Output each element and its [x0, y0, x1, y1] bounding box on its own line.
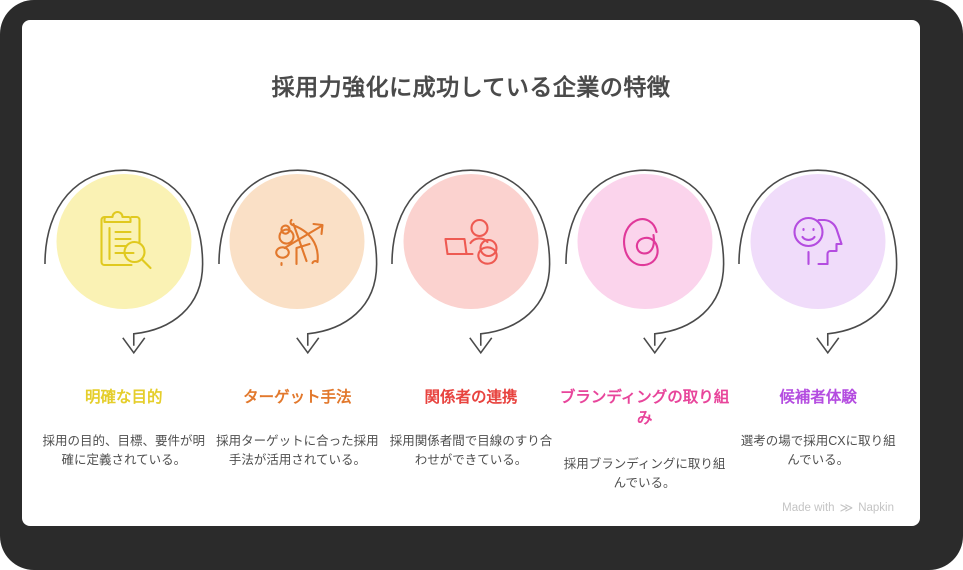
watermark-brand: Napkin	[858, 502, 894, 514]
feature-columns: 明確な目的 採用の目的、目標、要件が明確に定義されている。	[37, 160, 905, 510]
column-description: 採用の目的、目標、要件が明確に定義されている。	[41, 432, 207, 471]
icon-circle	[230, 174, 365, 309]
icon-circle	[403, 174, 538, 309]
feature-column-clear-purpose[interactable]: 明確な目的 採用の目的、目標、要件が明確に定義されている。	[37, 160, 211, 510]
column-heading: ブランディングの取り組み	[558, 388, 732, 430]
icon-circle	[56, 174, 191, 309]
smiley-head-profile-icon	[780, 204, 856, 280]
napkin-logo-icon: ≫	[840, 501, 854, 514]
feature-column-target-method[interactable]: ターゲット手法 採用ターゲットに合った採用手法が活用されている。	[211, 160, 385, 510]
napkin-watermark: Made with ≫ Napkin	[782, 501, 894, 514]
laptop-people-icon	[433, 204, 509, 280]
column-description: 採用ブランディングに取り組んでいる。	[562, 455, 728, 494]
bow-and-arrow-icon	[259, 204, 335, 280]
feature-column-stakeholder-alignment[interactable]: 関係者の連携 採用関係者間で目線のすり合わせができている。	[384, 160, 558, 510]
device-frame: 採用力強化に成功している企業の特徴	[0, 0, 963, 570]
column-heading: 候補者体験	[731, 388, 905, 409]
page-title: 採用力強化に成功している企業の特徴	[22, 68, 920, 102]
clipboard-search-icon	[86, 204, 162, 280]
icon-circle	[751, 174, 886, 309]
feature-column-branding-efforts[interactable]: ブランディングの取り組み 採用ブランディングに取り組んでいる。	[558, 160, 732, 510]
column-description: 採用ターゲットに合った採用手法が活用されている。	[215, 432, 381, 471]
feature-column-candidate-experience[interactable]: 候補者体験 選考の場で採用CXに取り組んでいる。	[731, 160, 905, 510]
threads-loop-icon	[607, 204, 683, 280]
column-description: 採用関係者間で目線のすり合わせができている。	[388, 432, 554, 471]
column-heading: 関係者の連携	[384, 388, 558, 409]
column-description: 選考の場で採用CXに取り組んでいる。	[735, 432, 901, 471]
screen-canvas: 採用力強化に成功している企業の特徴	[22, 20, 920, 526]
column-heading: ターゲット手法	[211, 388, 385, 409]
icon-circle	[577, 174, 712, 309]
column-heading: 明確な目的	[37, 388, 211, 409]
watermark-prefix: Made with	[782, 502, 834, 514]
